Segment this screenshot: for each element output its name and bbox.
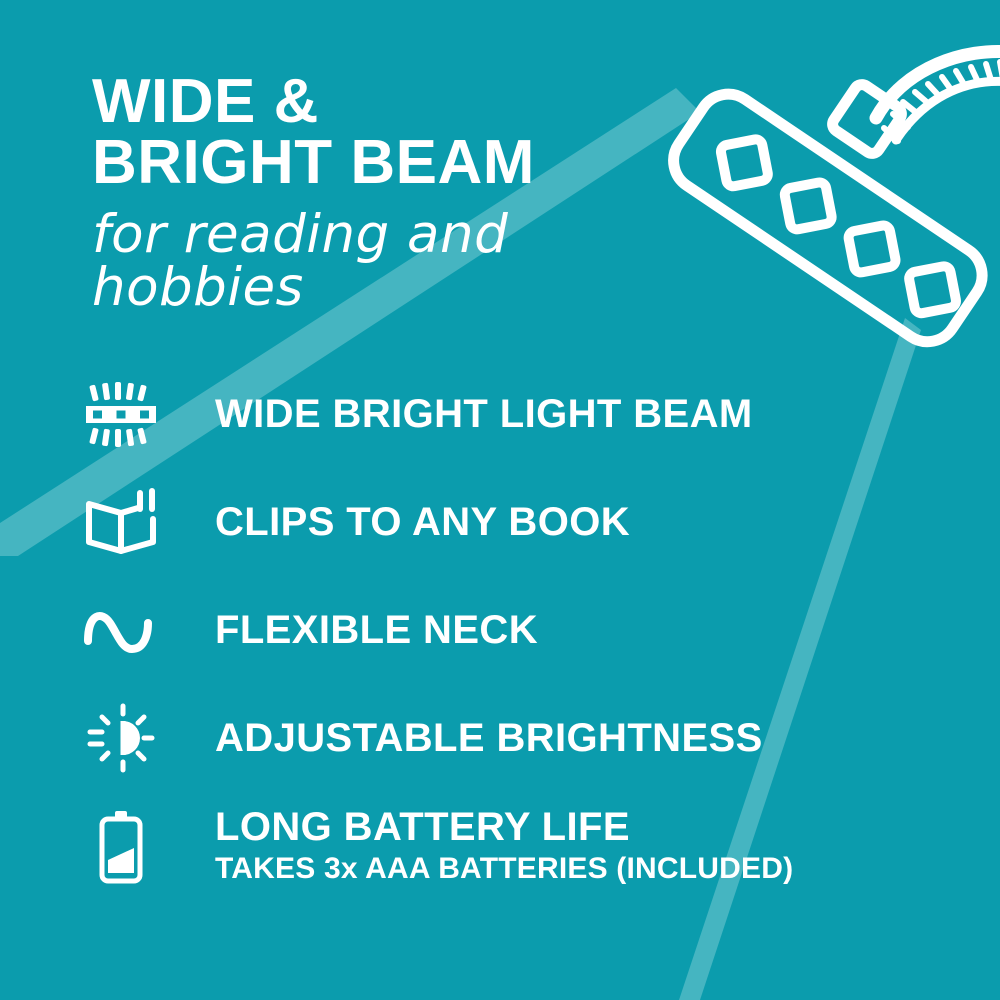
- feature-row: ADJUSTABLE BRIGHTNESS: [78, 684, 918, 792]
- feature-row: WIDE BRIGHT LIGHT BEAM: [78, 360, 918, 468]
- feature-text: FLEXIBLE NECK: [215, 609, 538, 651]
- headline-block: WIDE & BRIGHT BEAM for reading and hobbi…: [92, 72, 712, 314]
- feature-text: WIDE BRIGHT LIGHT BEAM: [215, 393, 753, 435]
- led-diamond-icon: [720, 138, 769, 187]
- flexible-gooseneck-icon: [876, 51, 1000, 141]
- feature-row: LONG BATTERY LIFE TAKES 3x AAA BATTERIES…: [78, 792, 918, 900]
- half-sun-brightness-icon: [78, 695, 164, 781]
- product-feature-poster: WIDE & BRIGHT BEAM for reading and hobbi…: [0, 0, 1000, 1000]
- feature-label: LONG BATTERY LIFE: [215, 806, 793, 848]
- feature-sublabel: TAKES 3x AAA BATTERIES (INCLUDED): [215, 852, 793, 887]
- feature-label: ADJUSTABLE BRIGHTNESS: [215, 717, 763, 759]
- led-diamond-icon: [847, 224, 896, 273]
- battery-icon: [78, 803, 164, 889]
- feature-text: ADJUSTABLE BRIGHTNESS: [215, 717, 763, 759]
- led-diamond-icon: [784, 181, 833, 230]
- feature-label: WIDE BRIGHT LIGHT BEAM: [215, 393, 753, 435]
- feature-text: LONG BATTERY LIFE TAKES 3x AAA BATTERIES…: [215, 806, 793, 887]
- page-subtitle: for reading and hobbies: [92, 208, 712, 314]
- led-light-strip-icon: [78, 371, 164, 457]
- feature-label: CLIPS TO ANY BOOK: [215, 501, 630, 543]
- feature-label: FLEXIBLE NECK: [215, 609, 538, 651]
- open-book-clip-icon: [78, 479, 164, 565]
- flexible-neck-wave-icon: [78, 587, 164, 673]
- feature-row: FLEXIBLE NECK: [78, 576, 918, 684]
- lamp-joint-icon: [830, 82, 905, 157]
- led-diamond-icon: [908, 265, 957, 314]
- page-title: WIDE & BRIGHT BEAM: [92, 72, 712, 194]
- feature-list: WIDE BRIGHT LIGHT BEAM: [78, 360, 918, 900]
- feature-text: CLIPS TO ANY BOOK: [215, 501, 630, 543]
- feature-row: CLIPS TO ANY BOOK: [78, 468, 918, 576]
